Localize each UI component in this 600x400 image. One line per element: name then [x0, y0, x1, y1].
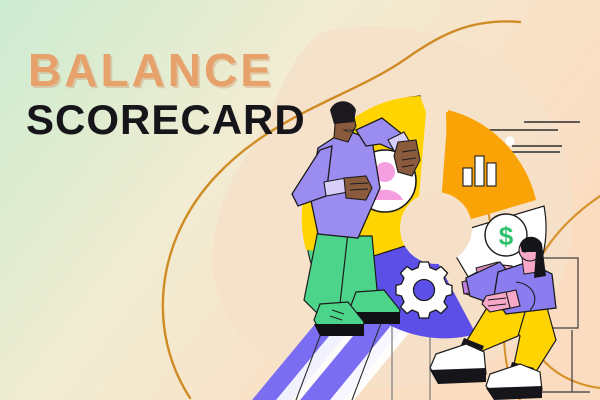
- page-title: BALANCE SCORECARD: [26, 48, 306, 140]
- seated-person-front-shoe: [430, 344, 486, 384]
- title-line-scorecard: SCORECARD: [26, 99, 306, 140]
- title-line-balance: BALANCE: [28, 48, 306, 93]
- seated-person-rear-shoe: [486, 364, 542, 400]
- poster-canvas: BALANCE SCORECARD: [0, 0, 600, 400]
